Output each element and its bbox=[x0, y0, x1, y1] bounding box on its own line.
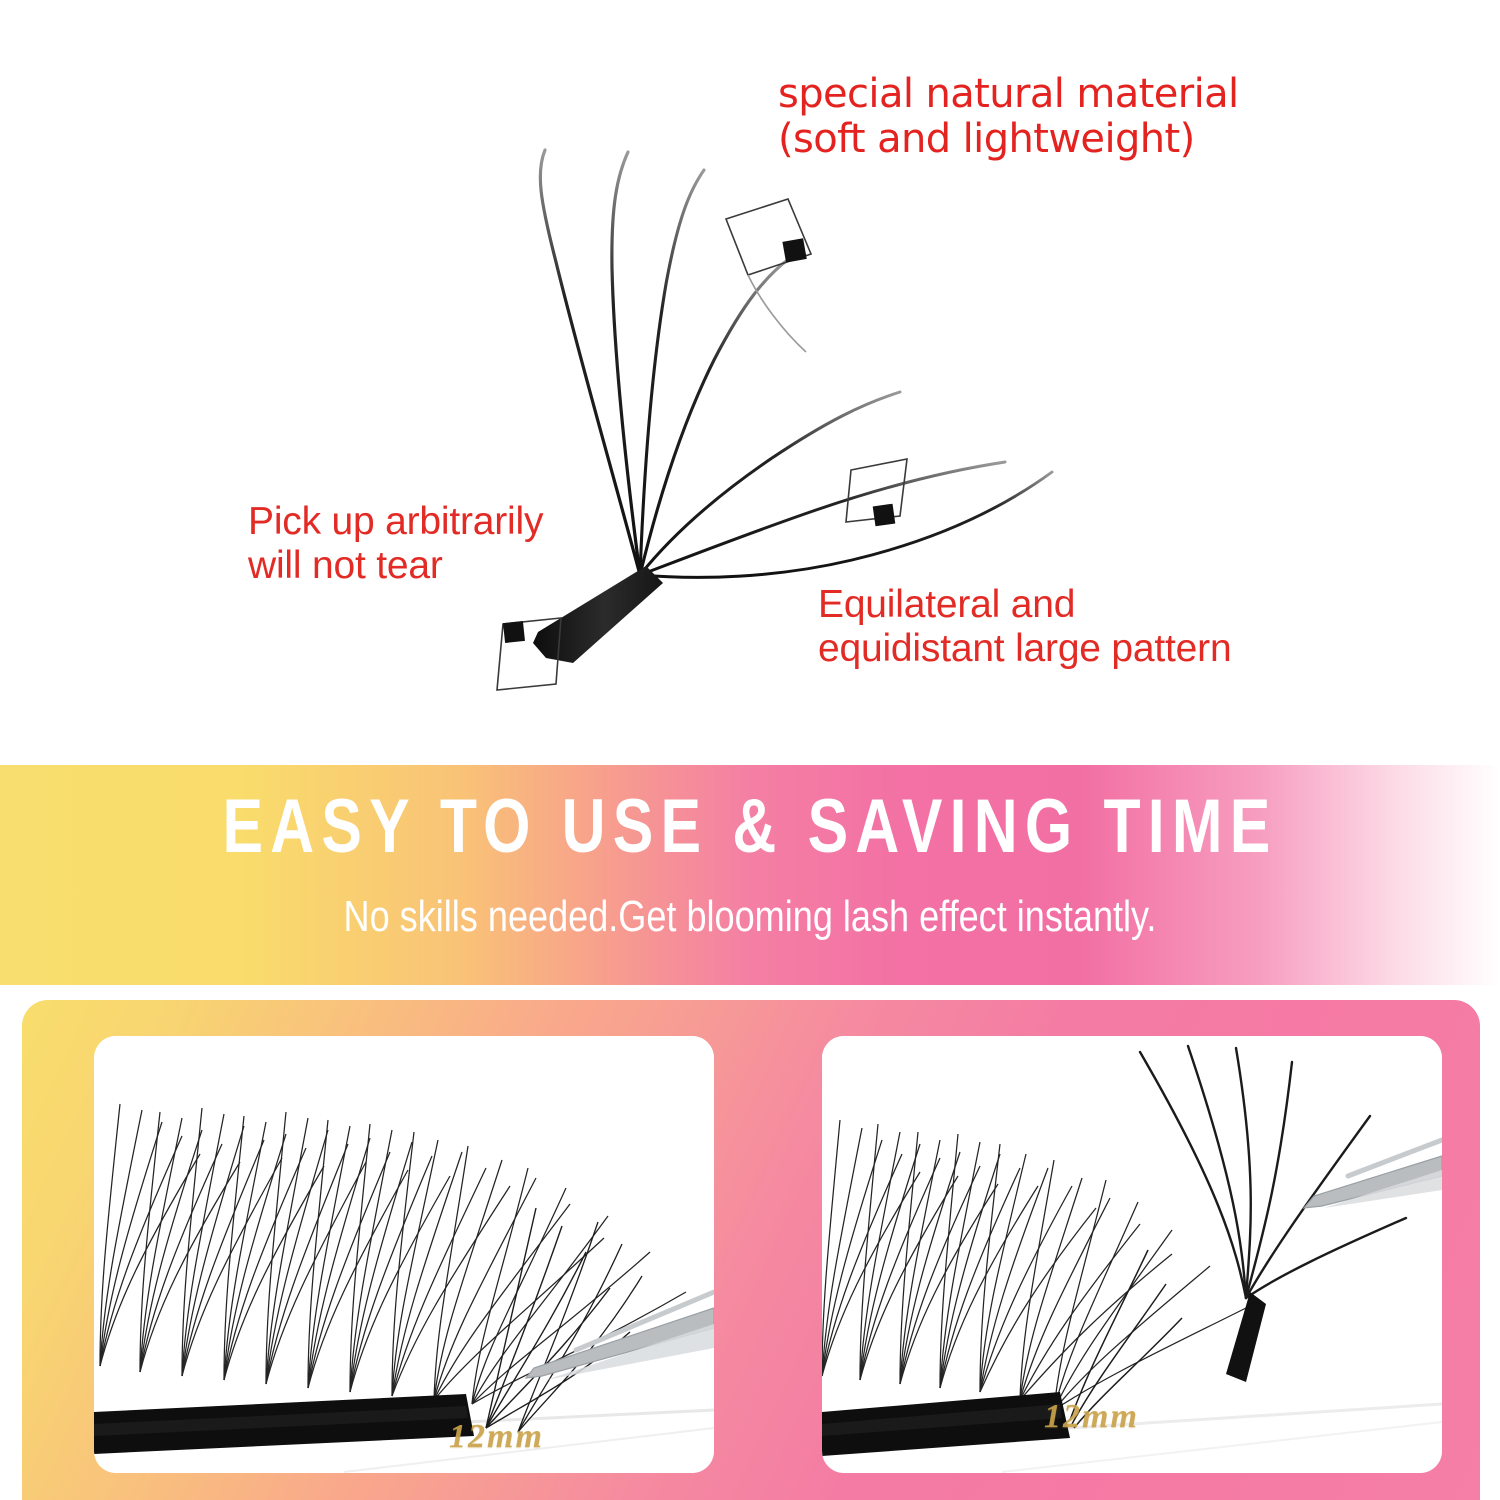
banner-title: EASY TO USE & SAVING TIME bbox=[150, 789, 1350, 865]
photo-card-lash-tray[interactable]: 12mm bbox=[94, 1036, 714, 1473]
lash-fan-diagram-section: special natural material (soft and light… bbox=[0, 0, 1500, 765]
photo-gallery-panel: 12mm bbox=[22, 1000, 1480, 1500]
size-label-right: 12mm bbox=[1044, 1398, 1139, 1436]
size-label-left: 12mm bbox=[449, 1418, 544, 1456]
photo-card-lash-fan-pickup[interactable]: 12mm bbox=[822, 1036, 1442, 1473]
callout-special-natural-material: special natural material (soft and light… bbox=[778, 72, 1239, 162]
lash-base-strip bbox=[533, 566, 663, 663]
callout-pick-up-arbitrarily: Pick up arbitrarily will not tear bbox=[248, 500, 543, 587]
lash-fan-illustration bbox=[0, 0, 1500, 765]
headline-banner: EASY TO USE & SAVING TIME No skills need… bbox=[0, 765, 1500, 985]
callout-marker-right bbox=[846, 459, 907, 526]
lash-tray-photo bbox=[94, 1036, 714, 1473]
banner-subtitle: No skills needed.Get blooming lash effec… bbox=[135, 893, 1365, 941]
lash-strands bbox=[540, 150, 1052, 577]
callout-equilateral-equidistant: Equilateral and equidistant large patter… bbox=[818, 583, 1231, 670]
product-feature-image: special natural material (soft and light… bbox=[0, 0, 1500, 1500]
